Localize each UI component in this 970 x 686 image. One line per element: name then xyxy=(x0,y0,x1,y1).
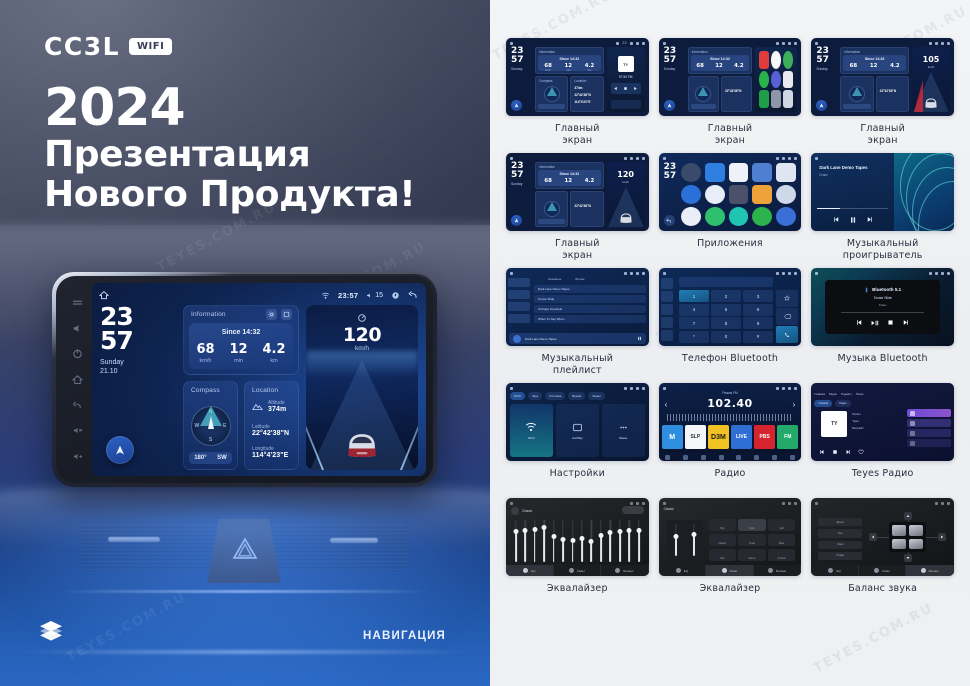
mini-location-card: Location 374m 22°42'38"N 114°4'23"E xyxy=(570,76,603,112)
key-star[interactable]: * xyxy=(679,331,710,343)
seat xyxy=(909,525,923,536)
gallery-item[interactable]: Dark Lane Demo Tapes Drake xyxy=(811,153,954,262)
key-0[interactable]: 0 xyxy=(711,331,742,343)
radio-toolbar[interactable] xyxy=(659,453,802,461)
settings-tabs[interactable]: Wi-Fi Звук Система Время Экран xyxy=(510,392,645,400)
location-title: Location xyxy=(252,387,278,394)
preset-tile[interactable]: Dance xyxy=(738,549,765,561)
key-9[interactable]: 9 xyxy=(743,317,774,329)
thumbnail-teyes-radio[interactable]: Главная Радио Подкаст Поиск Главная Ради… xyxy=(811,383,954,461)
balance-side-buttons[interactable]: Фронт Тыл Лево Право xyxy=(818,518,862,560)
balance-left-button[interactable] xyxy=(869,533,877,541)
gallery-caption: Радио xyxy=(714,468,745,492)
eq-band[interactable] xyxy=(616,520,623,562)
radio-next-icon[interactable]: › xyxy=(793,400,796,409)
balance-footer-tabs[interactable]: EQ Fader Баланс xyxy=(811,565,954,576)
phone-number-field[interactable] xyxy=(679,277,774,287)
teyes-radio-row[interactable] xyxy=(907,419,951,427)
thumbnail-apps[interactable]: 23 57 xyxy=(659,153,802,231)
phone-actions[interactable] xyxy=(776,290,798,343)
balance-right-button[interactable] xyxy=(938,533,946,541)
gallery-item[interactable]: Bluetooth 5.1 Toosie Slide Drake xyxy=(811,268,954,377)
next-icon[interactable] xyxy=(902,319,909,326)
apps-grid[interactable] xyxy=(681,163,797,226)
clock-date: 21.10 xyxy=(100,367,176,376)
settings-tab[interactable]: Wi-Fi xyxy=(510,392,525,400)
bluetooth-icon xyxy=(864,287,869,293)
equalizer-header: Classic xyxy=(511,507,532,515)
gallery-caption: Эквалайзер xyxy=(700,583,761,607)
preset-tile[interactable]: Jazz xyxy=(768,519,795,531)
trip-stat-value: 12 xyxy=(229,343,247,356)
thumbnail-music-playlist[interactable]: Название Время Dark Lane Demo Tapes Toos… xyxy=(506,268,649,346)
widgets-column: Information xyxy=(183,305,299,470)
settings-tab[interactable]: Экран xyxy=(588,392,604,400)
balance-down-button[interactable] xyxy=(904,554,912,562)
mini-clock-day: Sunday xyxy=(511,67,532,72)
stop-icon[interactable] xyxy=(623,86,628,91)
watermark: TEYES.COM.RU xyxy=(811,601,936,677)
power-icon[interactable] xyxy=(72,348,83,359)
radio-presets[interactable]: M SLP D3M LIVE PBS FM xyxy=(662,425,799,449)
settings-tab[interactable]: Время xyxy=(568,392,585,400)
teyes-radio-artwork: TY xyxy=(821,411,847,437)
compass-direction: SW xyxy=(217,455,227,461)
clock-day: Sunday xyxy=(100,358,176,367)
backspace-icon[interactable] xyxy=(776,308,798,325)
bt-controls[interactable] xyxy=(856,319,909,327)
playlist-row[interactable]: Dark Lane Demo Tapes xyxy=(534,285,646,293)
home-icon[interactable] xyxy=(72,374,83,385)
widgets-row-2: Compass N E S W xyxy=(183,381,299,470)
radio-tuning-scale[interactable] xyxy=(667,414,794,421)
key-hash[interactable]: # xyxy=(743,331,774,343)
player-controls[interactable] xyxy=(811,216,894,224)
trip-stat-value: 68 xyxy=(196,343,214,356)
presentation-slide: TEYES.COM.RU TEYES.COM.RU TEYES.COM.RU C… xyxy=(0,0,970,686)
back-icon[interactable] xyxy=(72,400,83,411)
bluetooth-sidebar[interactable] xyxy=(659,276,675,346)
seat xyxy=(892,525,906,536)
gallery-item[interactable]: 23 57 Sunday Information Since 14:32 68 … xyxy=(811,38,954,147)
footer-tab-eq[interactable]: EQ xyxy=(811,565,859,576)
gallery-item[interactable]: 1 2 3 4 5 6 7 8 9 * 0 # xyxy=(659,268,802,377)
radio-preset[interactable]: SLP xyxy=(685,425,706,449)
eq-band[interactable] xyxy=(635,520,642,562)
thumbnail-music-player[interactable]: Dark Lane Demo Tapes Drake xyxy=(811,153,954,231)
thumbnail-home-road[interactable]: 23 57 Sunday Information Since 14:32 68 … xyxy=(506,153,649,231)
mini-back-button[interactable] xyxy=(664,215,675,226)
dots-icon xyxy=(618,422,629,433)
gallery-item[interactable]: Classic Pop Rock Jazz Classic Vocal Bass… xyxy=(659,498,802,607)
thumbnail-home-apps[interactable]: 23 57 Sunday Information Since 14:32 68 … xyxy=(659,38,802,116)
status-volume-value: 15 xyxy=(375,292,383,299)
settings-tile-carplay[interactable]: CarPlay xyxy=(556,404,599,457)
teyes-radio-list[interactable] xyxy=(907,409,951,449)
mini-media-widget: TY 97.50 FM xyxy=(607,47,645,112)
trip-stat-value: 4.2 xyxy=(262,343,285,356)
preset-tile[interactable]: Rock xyxy=(738,519,765,531)
teyes-radio-tabs[interactable]: Главная Радио Подкаст Поиск xyxy=(814,390,951,397)
mini-clock-minutes: 57 xyxy=(511,56,532,65)
gallery-caption: Эквалайзер xyxy=(547,583,608,607)
gallery-caption: Главный экран xyxy=(555,238,600,262)
wifi-icon xyxy=(321,291,330,300)
settings-tiles[interactable]: Wi-Fi CarPlay Меню xyxy=(510,404,645,457)
next-icon[interactable] xyxy=(866,216,873,223)
gallery-item[interactable]: Classic xyxy=(506,498,649,607)
prev-icon[interactable] xyxy=(833,216,840,223)
playlist-row[interactable]: Toosie Slide xyxy=(534,295,646,303)
mini-clock: 23 57 Sunday xyxy=(816,47,837,112)
radio-preset[interactable]: M xyxy=(662,425,683,449)
balance-side-button[interactable]: Фронт xyxy=(818,518,862,526)
preset-tile[interactable]: Bass xyxy=(768,534,795,546)
gallery-item[interactable]: 23 57 Sunday Information Since 14:32 68 … xyxy=(506,153,649,262)
settings-tile-wifi[interactable]: Wi-Fi xyxy=(510,404,553,457)
location-latitude-row: Latitude 22°42'38"N xyxy=(252,424,292,437)
radio-preset[interactable]: FM xyxy=(777,425,798,449)
gallery-caption: Музыка Bluetooth xyxy=(838,353,928,377)
car-rear-icon xyxy=(344,428,380,460)
information-actions[interactable] xyxy=(266,309,292,320)
bt-track-artist: Drake xyxy=(879,303,886,307)
head-unit-screen[interactable]: 23:57 15 xyxy=(92,283,426,476)
heart-icon[interactable] xyxy=(858,449,864,455)
preset-tile[interactable]: Flat xyxy=(709,549,736,561)
speed-value: 120 xyxy=(306,324,418,346)
settings-tile-menu[interactable]: Меню xyxy=(602,404,645,457)
teyes-radio-metadata: Релиз Трек Битрейт xyxy=(852,412,863,433)
home-screen-body: 23 57 Sunday 21.10 xyxy=(100,305,418,470)
preset-tile[interactable]: Pop xyxy=(709,519,736,531)
gallery-item[interactable]: 23 57 Приложения xyxy=(659,153,802,262)
clock-hours: 23 xyxy=(100,305,176,329)
thumbnail-bluetooth-music[interactable]: Bluetooth 5.1 Toosie Slide Drake xyxy=(811,268,954,346)
pause-icon[interactable] xyxy=(849,216,857,224)
head-unit-side-buttons[interactable] xyxy=(66,290,88,469)
carplay-icon xyxy=(572,422,583,433)
settings-tab[interactable]: Система xyxy=(545,392,565,400)
gallery-caption: Teyes Радио xyxy=(852,468,914,492)
balance-up-button[interactable] xyxy=(904,512,912,520)
location-longitude-row: Longitude 114°4'23"E xyxy=(252,446,292,459)
compass-card[interactable]: Compass N E S W xyxy=(183,381,238,470)
trip-since: Since 14:32 xyxy=(189,329,293,336)
mini-apps-widget xyxy=(755,47,797,112)
teyes-radio-row[interactable] xyxy=(907,429,951,437)
playlist-now-playing[interactable]: Dark Lane Demo Tapes xyxy=(509,333,646,344)
clock-widget[interactable]: 23 57 Sunday 21.10 xyxy=(100,305,176,470)
thumbnail-home-media[interactable]: 23 23 57 Sunday Information xyxy=(506,38,649,116)
playlist-table[interactable]: Название Время Dark Lane Demo Tapes Toos… xyxy=(534,277,646,332)
layers-icon[interactable] xyxy=(38,619,64,648)
eq-band[interactable] xyxy=(512,520,519,562)
bt-progress-bar[interactable] xyxy=(841,312,924,313)
gallery-caption: Музыкальный плейлист xyxy=(541,353,613,377)
longitude-value: 114°4'23"E xyxy=(252,452,292,459)
thumbnail-settings[interactable]: Wi-Fi Звук Система Время Экран Wi-Fi xyxy=(506,383,649,461)
balance-side-button[interactable]: Тыл xyxy=(818,529,862,537)
preset-tile[interactable]: Custom xyxy=(768,549,795,561)
wifi-icon xyxy=(525,421,537,433)
volume-down-icon[interactable] xyxy=(72,425,83,436)
footer-tab-balance[interactable]: Баланс xyxy=(601,565,649,576)
brand-logo: CC3L WIFI xyxy=(44,32,172,61)
key-2[interactable]: 2 xyxy=(711,290,742,302)
equalizer-sliders[interactable] xyxy=(512,520,643,562)
compass-needle-icon xyxy=(208,416,214,429)
footer-tab-balance[interactable]: Баланс xyxy=(754,565,802,576)
status-bar: 23:57 15 xyxy=(99,287,418,303)
headline-year: 2024 xyxy=(44,82,415,135)
mini-information-card: Information Since 14:32 68km/h 12min 4.2… xyxy=(535,47,604,74)
playlist-row[interactable]: Chicago Freestyle xyxy=(534,305,646,313)
playlist-row[interactable]: When To Say When xyxy=(534,315,646,323)
mini-since: Since 14:32 xyxy=(538,57,601,61)
preset-tile[interactable]: Vocal xyxy=(738,534,765,546)
player-progress-bar[interactable] xyxy=(817,208,888,210)
mini-navigation-button[interactable] xyxy=(664,100,675,111)
gallery-caption: Телефон Bluetooth xyxy=(682,353,778,377)
eq-fader[interactable] xyxy=(690,524,698,556)
seat xyxy=(892,539,906,550)
clock-minutes: 57 xyxy=(100,329,176,353)
equalizer-preset-grid[interactable]: Pop Rock Jazz Classic Vocal Bass Flat Da… xyxy=(709,519,796,561)
mini-driving-widget: 120 km/h xyxy=(607,162,645,227)
eq-band[interactable] xyxy=(550,520,557,562)
volume-up-icon[interactable] xyxy=(72,451,83,462)
compass-title: Compass xyxy=(191,387,220,394)
mini-clock: 23 57 Sunday xyxy=(664,47,685,112)
back-icon[interactable] xyxy=(408,290,418,300)
driving-view-widget[interactable]: 120 km/h xyxy=(306,305,418,470)
compass-readout: 180° SW xyxy=(189,452,232,464)
eq-band[interactable] xyxy=(569,520,576,562)
thumbnail-home-lane[interactable]: 23 57 Sunday Information Since 14:32 68 … xyxy=(811,38,954,116)
trip-stats: 68 km/h 12 min xyxy=(189,343,293,364)
speaker-icon xyxy=(366,292,373,299)
speed-gauge-icon xyxy=(357,313,367,323)
equalizer-preset-control[interactable] xyxy=(622,506,644,514)
eq-band[interactable] xyxy=(626,520,633,562)
navigation-button[interactable] xyxy=(106,436,134,464)
gallery-item[interactable]: 23 23 57 Sunday Information xyxy=(506,38,649,147)
navigation-arrow-icon xyxy=(113,443,127,457)
mini-speed-value: 105 xyxy=(912,55,950,64)
radio-band-label: Режим FM xyxy=(659,391,802,395)
eq-band[interactable] xyxy=(521,520,528,562)
dashboard-glow xyxy=(0,506,490,686)
eq-band[interactable] xyxy=(597,520,604,562)
headline-line-1: Презентация xyxy=(44,135,415,175)
equalizer-footer-tabs[interactable]: EQ Fader Баланс xyxy=(659,565,802,576)
status-bar-right: 23:57 15 xyxy=(321,290,418,300)
gallery-item[interactable]: Главная Радио Подкаст Поиск Главная Ради… xyxy=(811,383,954,492)
next-icon[interactable] xyxy=(845,449,851,455)
mini-info-title: Information xyxy=(539,50,555,54)
eq-band[interactable] xyxy=(607,520,614,562)
gallery-caption: Настройки xyxy=(550,468,605,492)
radio-preset[interactable]: LIVE xyxy=(731,425,752,449)
play-pause-icon[interactable] xyxy=(871,319,879,327)
menu-icon[interactable] xyxy=(72,297,83,308)
speed-unit: km/h xyxy=(306,345,418,352)
bt-track-title: Toosie Slide xyxy=(874,296,892,300)
bluetooth-music-card: Bluetooth 5.1 Toosie Slide Drake xyxy=(825,280,940,334)
key-3[interactable]: 3 xyxy=(743,290,774,302)
favorite-star-icon[interactable] xyxy=(776,290,798,307)
balance-stage[interactable] xyxy=(869,512,946,562)
cabin-seats-diagram xyxy=(889,522,926,552)
eq-band[interactable] xyxy=(559,520,566,562)
eq-band[interactable] xyxy=(588,520,595,562)
mini-compass-card: Compass xyxy=(535,76,568,112)
eq-fader[interactable] xyxy=(672,524,680,556)
page-title: 2024 Презентация Нового Продукта! xyxy=(44,82,415,216)
gallery-grid: 23 23 57 Sunday Information xyxy=(506,38,954,607)
lane-departure-warning-icon xyxy=(914,80,923,112)
head-unit-device: 23:57 15 xyxy=(52,272,437,487)
information-title: Information xyxy=(191,311,226,318)
trip-stat: 4.2 km xyxy=(262,343,285,364)
seat xyxy=(909,539,923,550)
compass-degrees: 180° xyxy=(194,455,206,461)
footer-tab-eq[interactable]: EQ xyxy=(659,565,707,576)
gallery-caption: Музыкальный проигрыватель xyxy=(843,238,923,262)
home-icon[interactable] xyxy=(99,290,109,300)
balance-side-button[interactable]: Лево xyxy=(818,541,862,549)
thumbnail-bluetooth-phone[interactable]: 1 2 3 4 5 6 7 8 9 * 0 # xyxy=(659,268,802,346)
footer-tab-fader[interactable]: Fader xyxy=(706,565,754,576)
mini-clock: 23 57 Sunday xyxy=(511,47,532,112)
footer-tab-balance[interactable]: Баланс xyxy=(906,565,954,576)
headline-line-2: Нового Продукта! xyxy=(44,175,415,215)
teyes-radio-row[interactable] xyxy=(907,409,951,417)
key-6[interactable]: 6 xyxy=(743,304,774,316)
status-time: 23:57 xyxy=(338,291,358,300)
compass-s: S xyxy=(209,437,212,443)
mini-speed-value: 120 xyxy=(607,170,645,179)
prev-icon[interactable] xyxy=(819,449,825,455)
trip-stat: 68 km/h xyxy=(196,343,214,364)
left-hero-panel: TEYES.COM.RU TEYES.COM.RU TEYES.COM.RU C… xyxy=(0,0,490,686)
trip-stat: 12 min xyxy=(229,343,247,364)
pause-icon[interactable] xyxy=(637,336,642,341)
status-volume: 15 xyxy=(366,292,383,299)
mini-navigation-button[interactable] xyxy=(511,100,522,111)
settings-gear-icon[interactable] xyxy=(266,309,277,320)
compass-dial: N E S W xyxy=(191,406,231,446)
mini-clock: 23 57 Sunday xyxy=(511,162,532,227)
brand-name: CC3L xyxy=(44,32,120,61)
gallery-item[interactable]: 23 57 Sunday Information Since 14:32 68 … xyxy=(659,38,802,147)
footer-tab-fader[interactable]: Fader xyxy=(554,565,602,576)
latitude-value: 22°42'38"N xyxy=(252,430,292,437)
mountain-icon xyxy=(252,402,263,411)
gallery-caption: Баланс звука xyxy=(848,583,917,607)
equalizer-header: Classic xyxy=(664,507,674,511)
trip-stat-unit: km/h xyxy=(196,358,214,364)
playlist-header: Название Время xyxy=(534,277,646,283)
prev-icon[interactable] xyxy=(856,319,863,326)
compass-e: E xyxy=(223,423,226,429)
altitude-value: 374m xyxy=(268,406,286,413)
key-8[interactable]: 8 xyxy=(711,317,742,329)
gallery-caption: Главный экран xyxy=(860,123,905,147)
radio-frequency: 102.40 xyxy=(659,397,802,410)
radio-preset[interactable]: PBS xyxy=(754,425,775,449)
preset-tile[interactable]: Classic xyxy=(709,534,736,546)
gallery-caption: Главный экран xyxy=(708,123,753,147)
dial-keypad[interactable]: 1 2 3 4 5 6 7 8 9 * 0 # xyxy=(679,290,774,343)
teyes-radio-row[interactable] xyxy=(907,439,951,447)
information-card[interactable]: Information xyxy=(183,305,299,375)
gallery-item[interactable]: Название Время Dark Lane Demo Tapes Toos… xyxy=(506,268,649,377)
location-card[interactable]: Location Altitude 374m xyxy=(244,381,299,470)
balance-side-button[interactable]: Право xyxy=(818,552,862,560)
gallery-item[interactable]: Wi-Fi Звук Система Время Экран Wi-Fi xyxy=(506,383,649,492)
key-7[interactable]: 7 xyxy=(679,317,710,329)
thumbnail-equalizer-presets[interactable]: Classic Pop Rock Jazz Classic Vocal Bass… xyxy=(659,498,802,576)
footer-tab-fader[interactable]: Fader xyxy=(859,565,907,576)
radio-preset[interactable]: D3M xyxy=(708,425,729,449)
navigation-label: НАВИГАЦИЯ xyxy=(363,630,446,642)
eq-band[interactable] xyxy=(540,520,547,562)
location-altitude-row: Altitude 374m xyxy=(252,400,292,413)
mic-icon[interactable] xyxy=(391,291,400,300)
head-unit-frame: 23:57 15 xyxy=(56,276,433,483)
equalizer-faders[interactable] xyxy=(667,520,703,560)
eq-band[interactable] xyxy=(531,520,538,562)
key-1[interactable]: 1 xyxy=(679,290,710,302)
eq-band[interactable] xyxy=(578,520,585,562)
thumbnail-equalizer[interactable]: Classic xyxy=(506,498,649,576)
prev-icon[interactable] xyxy=(613,86,618,91)
settings-tab[interactable]: Звук xyxy=(528,392,542,400)
key-4[interactable]: 4 xyxy=(679,304,710,316)
gallery-item[interactable]: Фронт Тыл Лево Право xyxy=(811,498,954,607)
stop-icon[interactable] xyxy=(887,319,894,326)
gallery-caption: Главный экран xyxy=(555,123,600,147)
thumbnail-sound-balance[interactable]: Фронт Тыл Лево Право xyxy=(811,498,954,576)
footer-tab-eq[interactable]: EQ xyxy=(506,565,554,576)
expand-icon[interactable] xyxy=(281,309,292,320)
player-track-title: Dark Lane Demo Tapes xyxy=(819,165,867,170)
bluetooth-badge: Bluetooth 5.1 xyxy=(864,287,901,293)
trip-panel: Since 14:32 68 km/h 12 xyxy=(189,323,293,369)
player-visualizer xyxy=(894,153,954,231)
player-artist: Drake xyxy=(819,173,828,177)
gallery-caption: Приложения xyxy=(697,238,763,262)
trip-stat-unit: min xyxy=(229,358,247,364)
equalizer-footer-tabs[interactable]: EQ Fader Баланс xyxy=(506,565,649,576)
head-unit-bezel: 23:57 15 xyxy=(52,272,437,487)
volume-icon[interactable] xyxy=(72,323,83,334)
screenshot-gallery-panel: TEYES.COM.RU TEYES.COM.RU TEYES.COM.RU T… xyxy=(490,0,970,686)
next-icon[interactable] xyxy=(633,86,638,91)
teyes-radio-subtabs[interactable]: Главная Радио xyxy=(814,400,951,407)
stop-icon[interactable] xyxy=(832,449,838,455)
trip-stat-unit: km xyxy=(262,358,285,364)
key-5[interactable]: 5 xyxy=(711,304,742,316)
thumbnail-radio[interactable]: Режим FM ‹ 102.40 › M SLP D3M LIVE PBS F… xyxy=(659,383,802,461)
call-icon[interactable] xyxy=(776,326,798,343)
gallery-item[interactable]: Режим FM ‹ 102.40 › M SLP D3M LIVE PBS F… xyxy=(659,383,802,492)
player-left-pane: Dark Lane Demo Tapes Drake xyxy=(811,153,894,231)
mini-lane-warning-widget: 105 km/h xyxy=(912,47,950,112)
teyes-radio-controls[interactable] xyxy=(819,449,864,455)
